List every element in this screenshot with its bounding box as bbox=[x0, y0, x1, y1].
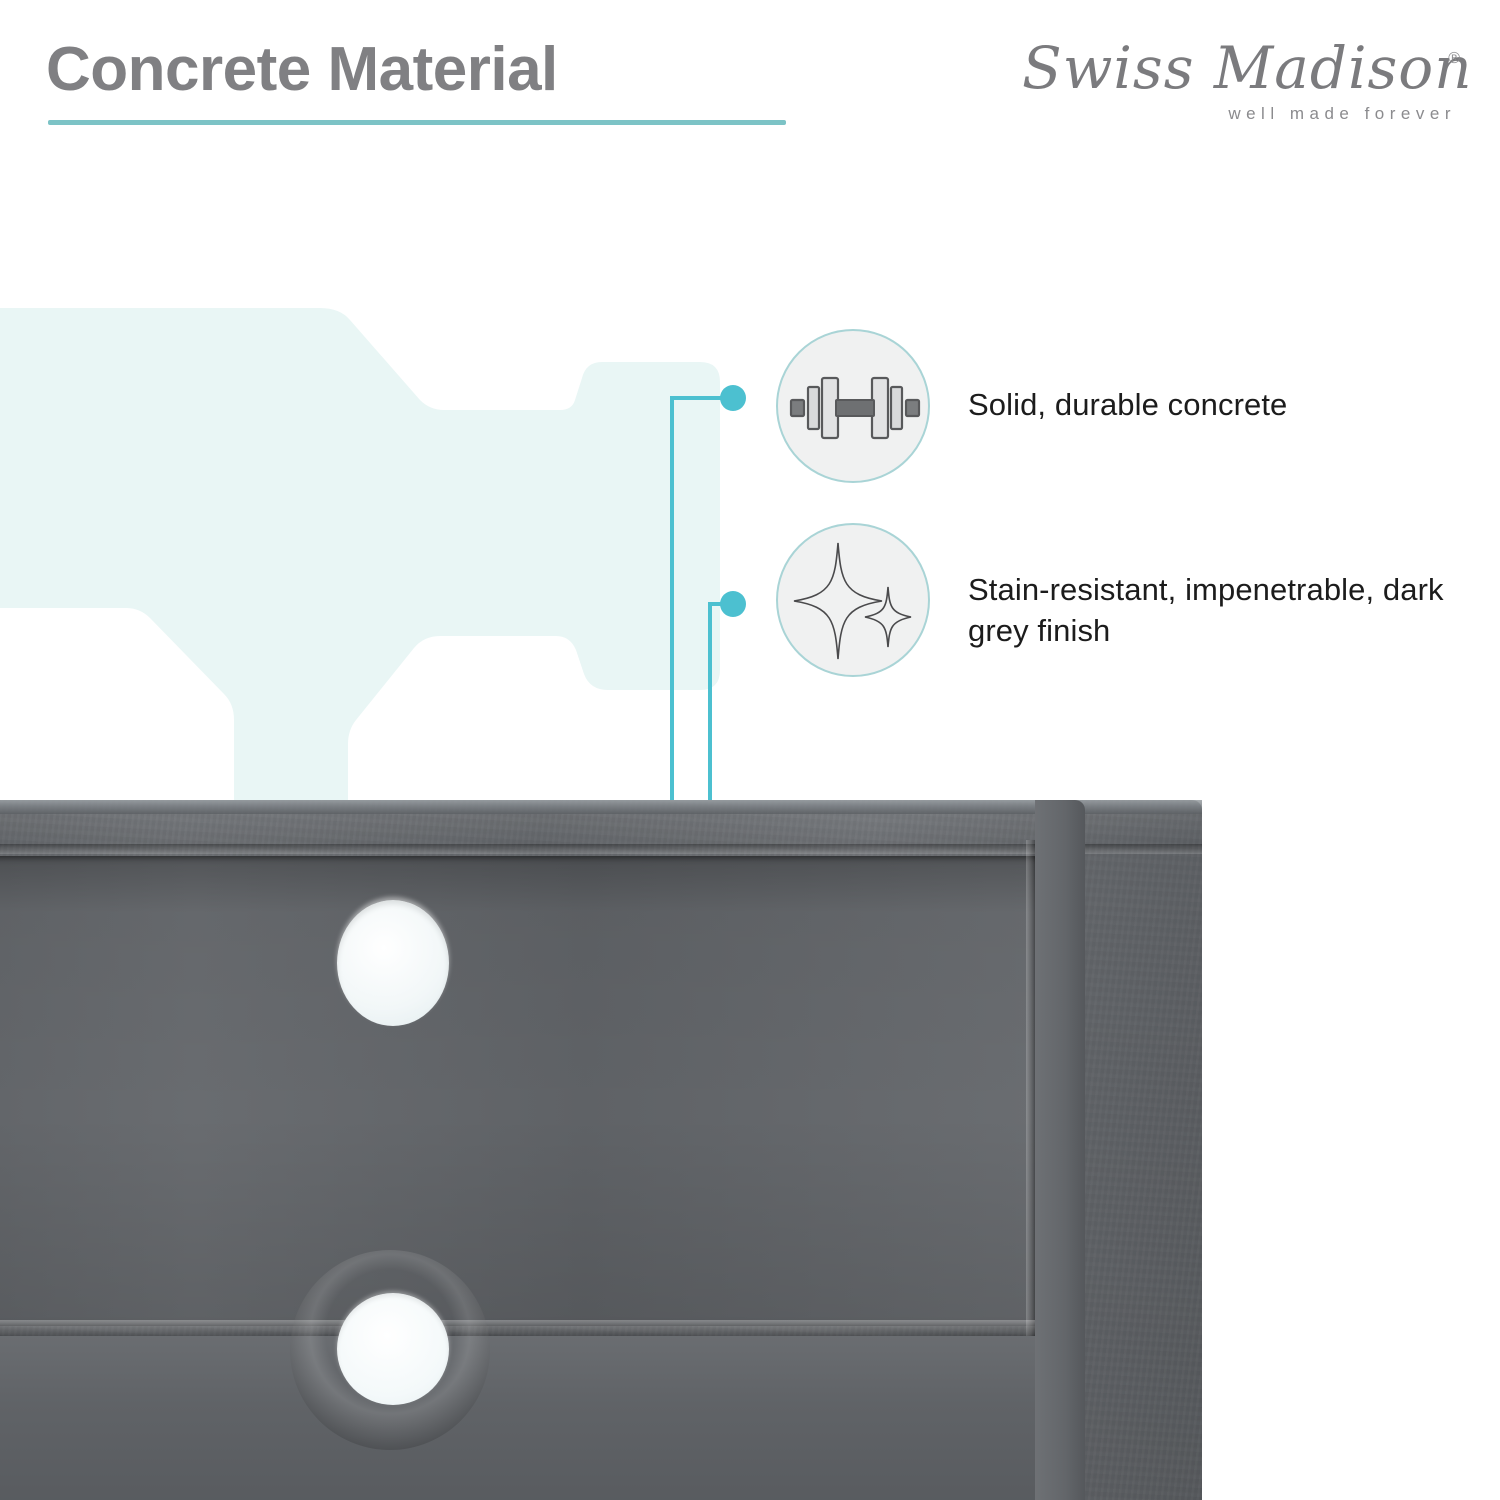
brand-tagline: well made forever bbox=[1228, 104, 1456, 124]
brand-name: Swiss Madison bbox=[1022, 34, 1452, 102]
drain-hole bbox=[337, 1293, 449, 1405]
callout-icon-circle-0 bbox=[776, 329, 930, 483]
callout-text-1: Stain-resistant, impenetrable, dark grey… bbox=[968, 570, 1478, 652]
leader-dot-0 bbox=[720, 385, 746, 411]
basin-inner-right-edge bbox=[1026, 840, 1035, 1340]
basin-outer-rim bbox=[0, 800, 1202, 814]
basin-right-face bbox=[1035, 800, 1085, 1500]
hammer-icon bbox=[0, 250, 760, 810]
registered-trademark-icon: ® bbox=[1448, 50, 1460, 68]
product-image-concrete-basin bbox=[0, 800, 1202, 1500]
basin-rim-groove bbox=[0, 844, 1202, 854]
page-title: Concrete Material bbox=[46, 34, 558, 105]
title-underline bbox=[48, 120, 786, 125]
brand-logo: Swiss Madison ® well made forever bbox=[1022, 34, 1462, 134]
concrete-slab bbox=[0, 800, 1202, 1500]
basin-lower-lip bbox=[0, 1320, 1040, 1336]
faucet-hole bbox=[337, 900, 449, 1026]
callout-text-0: Solid, durable concrete bbox=[968, 385, 1468, 426]
sparkle-icon bbox=[778, 525, 932, 679]
basin-recess bbox=[0, 856, 1040, 1326]
infographic-page: Concrete Material Swiss Madison ® well m… bbox=[0, 0, 1500, 1500]
basin-lower-shelf bbox=[0, 1336, 1040, 1500]
callout-icon-circle-1 bbox=[776, 523, 930, 677]
leader-dot-1 bbox=[720, 591, 746, 617]
dumbbell-icon bbox=[778, 331, 932, 485]
